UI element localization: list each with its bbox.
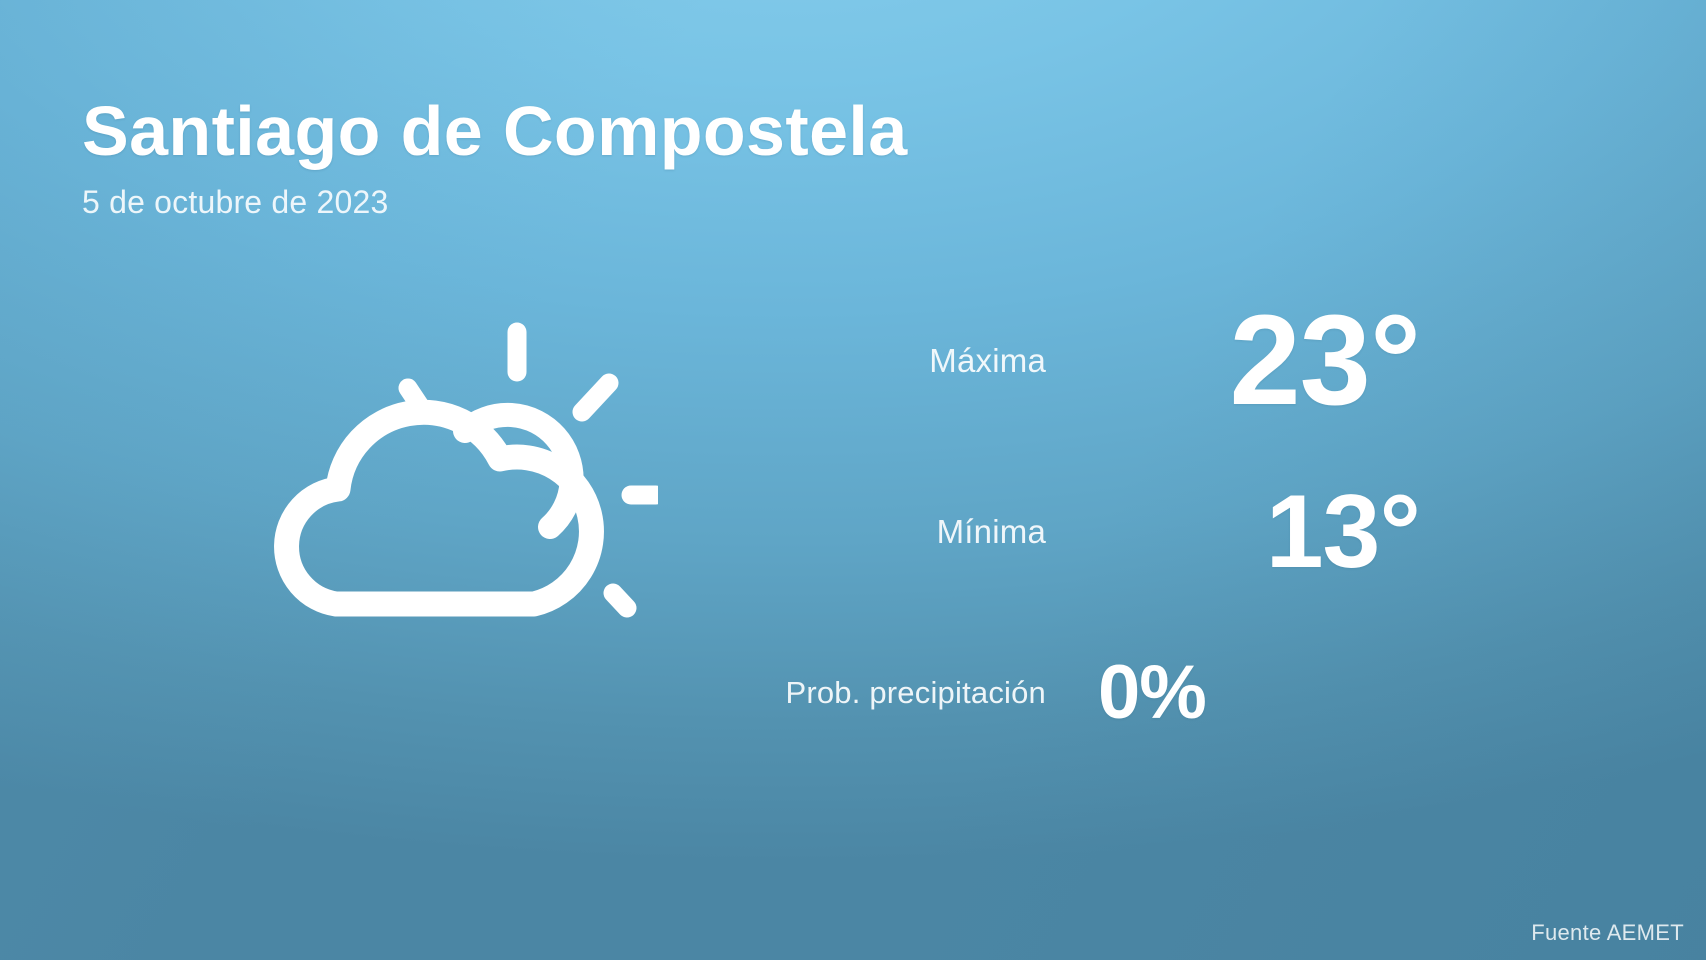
precipitation-value: 0% (1090, 655, 1420, 731)
source-attribution: Fuente AEMET (1531, 920, 1684, 946)
reading-row-max: Máxima 23° (600, 276, 1420, 446)
precipitation-label: Prob. precipitación (660, 675, 1090, 711)
min-temp-label: Mínima (660, 513, 1090, 551)
max-temp-value: 23° (1090, 297, 1420, 425)
forecast-date: 5 de octubre de 2023 (82, 184, 908, 221)
reading-row-min: Mínima 13° (600, 446, 1420, 618)
weather-card: Santiago de Compostela 5 de octubre de 2… (0, 0, 1706, 960)
max-temp-label: Máxima (660, 342, 1090, 380)
page-title: Santiago de Compostela (82, 96, 908, 166)
partly-cloudy-icon (228, 288, 658, 638)
readings-list: Máxima 23° Mínima 13° Prob. precipitació… (600, 276, 1420, 768)
partly-cloudy-icon-graphic (228, 288, 658, 638)
header: Santiago de Compostela 5 de octubre de 2… (82, 96, 908, 221)
reading-row-precipitation: Prob. precipitación 0% (600, 618, 1420, 768)
min-temp-value: 13° (1090, 480, 1420, 584)
